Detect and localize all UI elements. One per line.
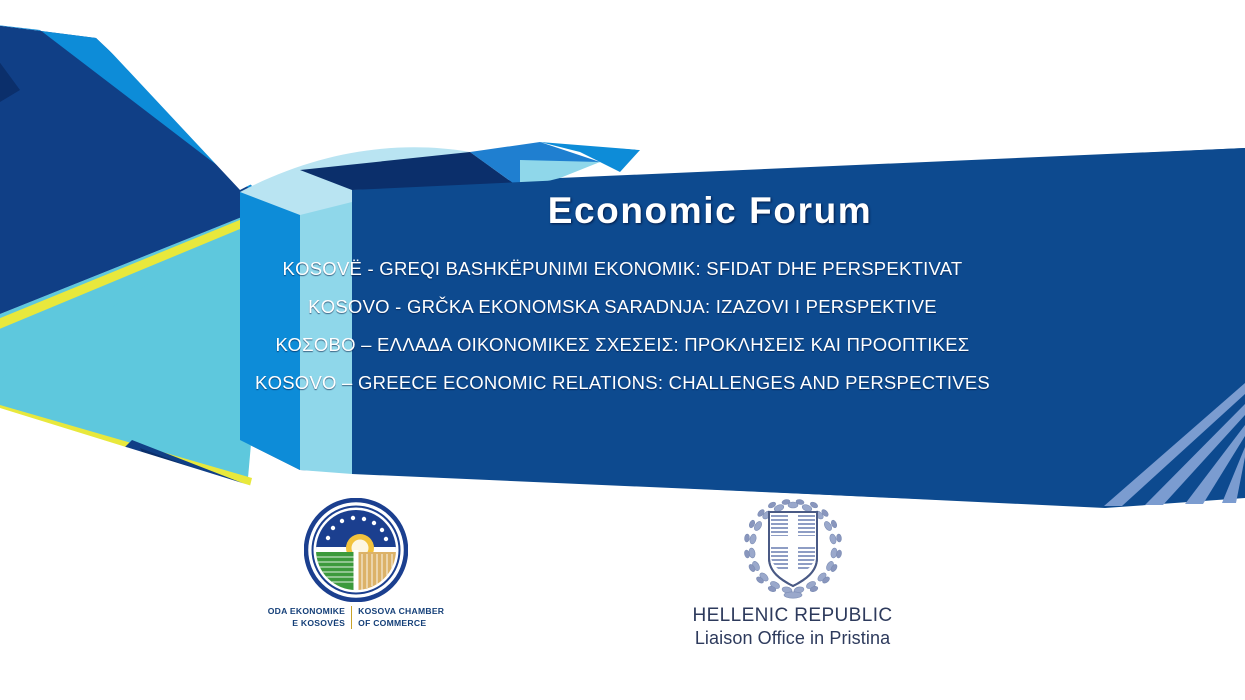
kosova-chamber-caption-english: KOSOVA CHAMBER OF COMMERCE [351,606,444,629]
hellenic-republic-subtitle: Liaison Office in Pristina [660,627,925,650]
subtitle-line-albanian: KOSOVË - GREQI BASHKËPUNIMI EKONOMIK: SF… [0,258,1245,280]
subtitle-line-serbian: KOSOVO - GRČKA EKONOMSKA SARADNJA: IZAZO… [0,296,1245,318]
subtitle-line-english: KOSOVO – GREECE ECONOMIC RELATIONS: CHAL… [0,372,1245,394]
greek-cross [788,512,797,584]
kosova-chamber-caption-albanian: ODA EKONOMIKE E KOSOVËS [268,606,351,629]
hellenic-republic-title: HELLENIC REPUBLIC [660,604,925,627]
logo-kosova-chamber-of-commerce: ODA EKONOMIKE E KOSOVËS KOSOVA CHAMBER O… [256,498,456,629]
subtitle-line-greek: ΚΟΣΟΒΟ – ΕΛΛΑΔΑ ΟΙΚΟΝΟΜΙΚΕΣ ΣΧΕΣΕΙΣ: ΠΡΟ… [0,334,1245,356]
hellenic-republic-coat-of-arms-icon [741,496,845,600]
presentation-slide: Economic Forum KOSOVË - GREQI BASHKËPUNI… [0,0,1245,700]
page-title: Economic Forum [300,190,1120,232]
banner-text-block: Economic Forum KOSOVË - GREQI BASHKËPUNI… [0,0,1245,700]
kosova-chamber-caption: ODA EKONOMIKE E KOSOVËS KOSOVA CHAMBER O… [256,606,456,629]
kosova-chamber-emblem-icon [304,498,408,602]
logo-hellenic-republic: HELLENIC REPUBLIC Liaison Office in Pris… [660,496,925,650]
